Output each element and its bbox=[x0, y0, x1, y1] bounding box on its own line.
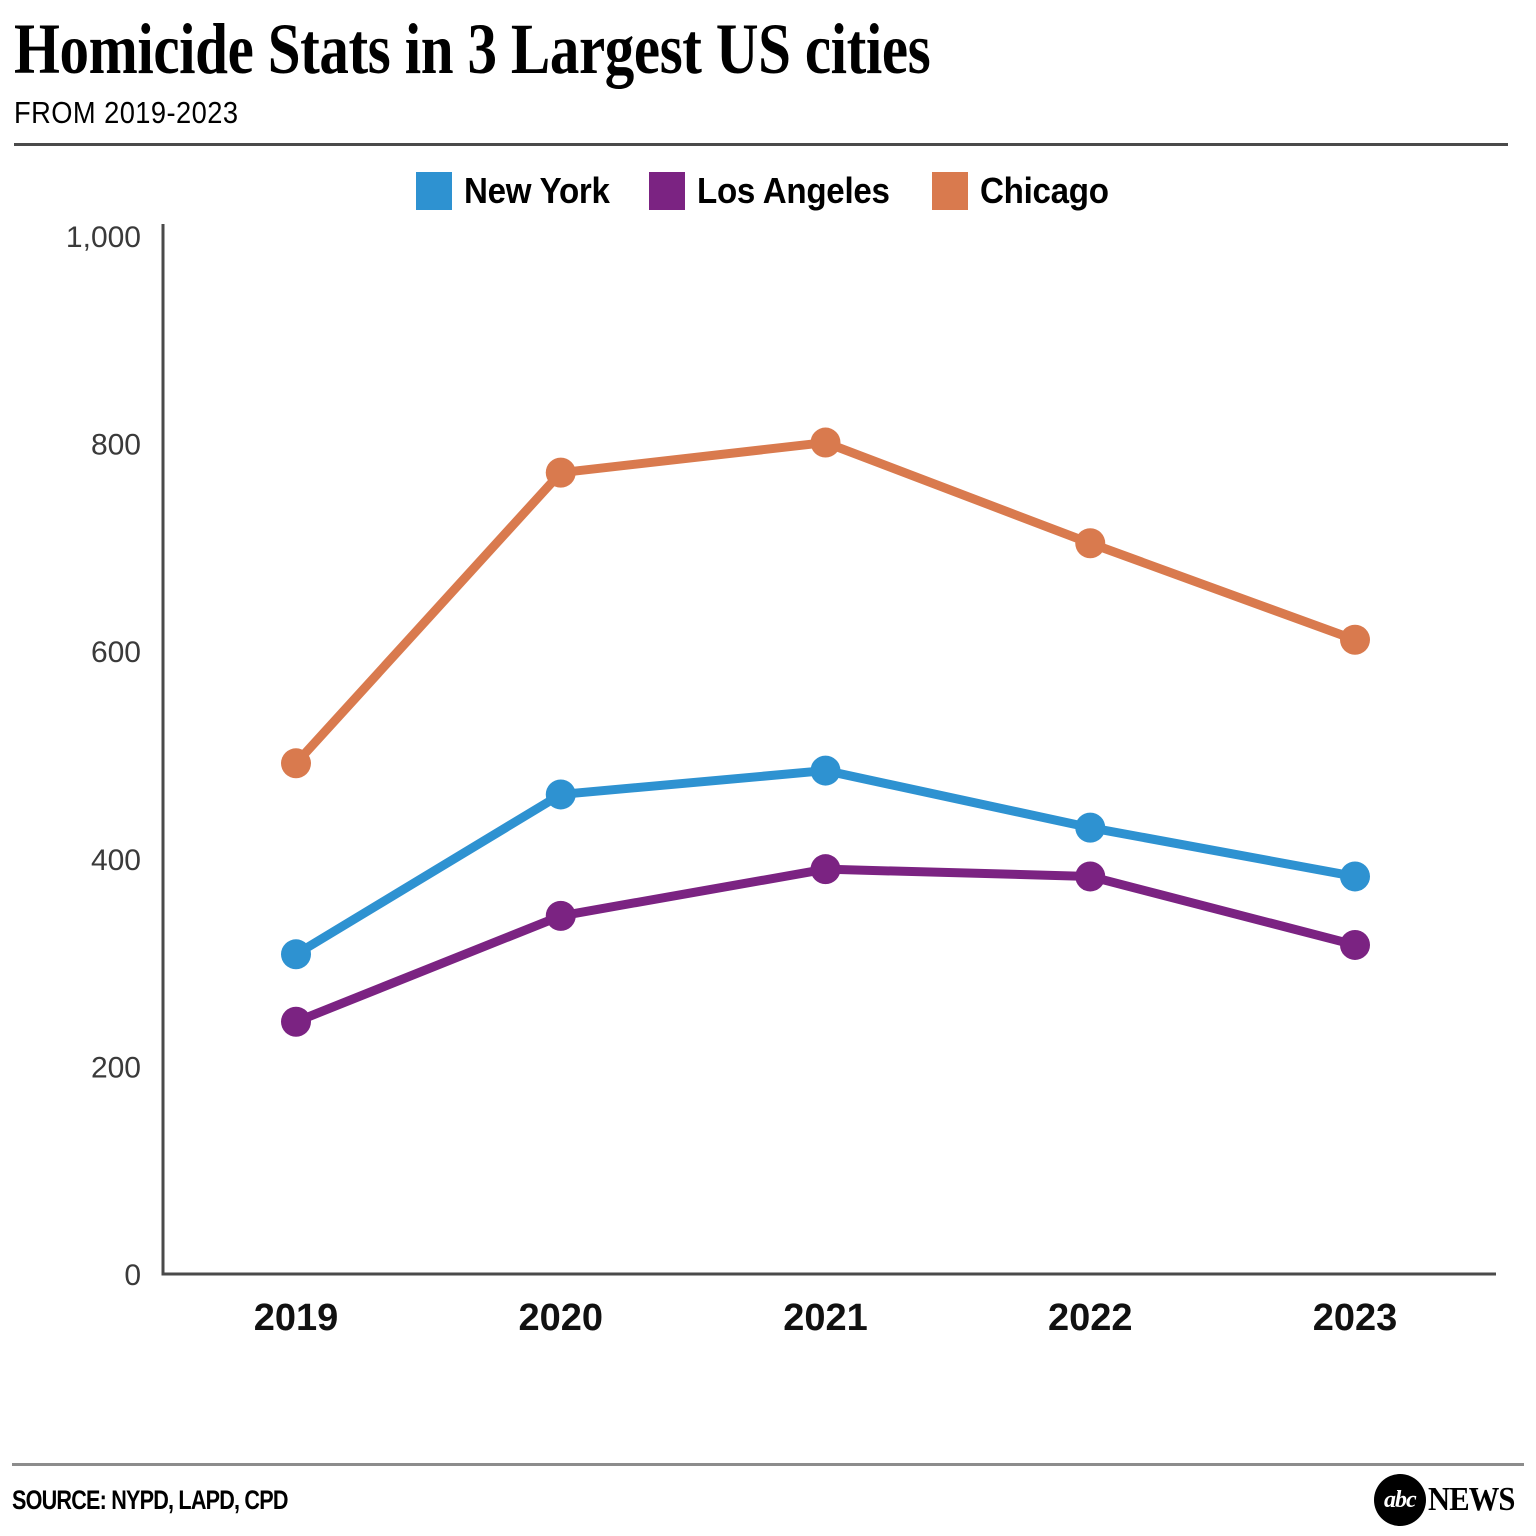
data-point-new-york-2023[interactable] bbox=[1340, 861, 1370, 891]
x-axis-tick-label: 2020 bbox=[518, 1297, 603, 1339]
source-credit: SOURCE: NYPD, LAPD, CPD bbox=[12, 1485, 288, 1516]
legend-swatch-icon-chicago bbox=[932, 172, 968, 210]
y-axis-tick-label: 600 bbox=[91, 636, 141, 669]
header-divider bbox=[14, 143, 1508, 146]
data-point-los-angeles-2021[interactable] bbox=[811, 854, 841, 884]
legend-item-los-angeles[interactable]: Los Angeles bbox=[649, 170, 906, 212]
series-line-chicago bbox=[296, 442, 1355, 763]
y-axis-tick-label: 1,000 bbox=[66, 221, 141, 254]
data-point-los-angeles-2022[interactable] bbox=[1075, 861, 1105, 891]
x-axis-tick-label: 2022 bbox=[1048, 1297, 1133, 1339]
footer: SOURCE: NYPD, LAPD, CPD abc NEWS bbox=[0, 1463, 1536, 1536]
data-point-new-york-2022[interactable] bbox=[1075, 812, 1105, 842]
y-axis-tick-label: 400 bbox=[91, 843, 141, 876]
x-axis-tick-label: 2023 bbox=[1313, 1297, 1398, 1339]
data-point-new-york-2020[interactable] bbox=[546, 779, 576, 809]
abc-logo-text: NEWS bbox=[1428, 1481, 1515, 1519]
legend-label-new-york: New York bbox=[464, 170, 610, 212]
data-point-los-angeles-2019[interactable] bbox=[281, 1006, 311, 1036]
chart-plot-area: 02004006008001,00020192020202120222023 bbox=[0, 212, 1536, 1463]
page-subtitle: FROM 2019-2023 bbox=[14, 95, 1336, 131]
x-axis-tick-label: 2019 bbox=[254, 1297, 339, 1339]
data-point-new-york-2019[interactable] bbox=[281, 939, 311, 969]
abc-news-logo: abc NEWS bbox=[1374, 1474, 1524, 1526]
legend-item-new-york[interactable]: New York bbox=[416, 170, 622, 212]
data-point-chicago-2022[interactable] bbox=[1075, 528, 1105, 558]
data-point-chicago-2021[interactable] bbox=[811, 427, 841, 457]
chart-legend: New York Los Angeles Chicago bbox=[0, 170, 1536, 212]
data-point-chicago-2019[interactable] bbox=[281, 748, 311, 778]
data-point-los-angeles-2020[interactable] bbox=[546, 900, 576, 930]
series-line-los-angeles bbox=[296, 869, 1355, 1022]
line-chart-svg: 02004006008001,00020192020202120222023 bbox=[0, 212, 1536, 1392]
y-axis-tick-label: 0 bbox=[124, 1259, 141, 1292]
legend-label-los-angeles: Los Angeles bbox=[697, 170, 890, 212]
footer-divider bbox=[12, 1463, 1524, 1466]
legend-label-chicago: Chicago bbox=[980, 170, 1109, 212]
y-axis-tick-label: 800 bbox=[91, 428, 141, 461]
data-point-chicago-2020[interactable] bbox=[546, 457, 576, 487]
infographic-page: Homicide Stats in 3 Largest US cities FR… bbox=[0, 0, 1536, 1536]
legend-swatch-icon-los-angeles bbox=[649, 172, 685, 210]
data-point-los-angeles-2023[interactable] bbox=[1340, 930, 1370, 960]
legend-swatch-icon-new-york bbox=[416, 172, 452, 210]
data-point-chicago-2023[interactable] bbox=[1340, 624, 1370, 654]
x-axis-tick-label: 2021 bbox=[783, 1297, 868, 1339]
legend-item-chicago[interactable]: Chicago bbox=[932, 170, 1120, 212]
page-title: Homicide Stats in 3 Largest US cities bbox=[14, 14, 1246, 85]
data-point-new-york-2021[interactable] bbox=[811, 755, 841, 785]
y-axis-tick-label: 200 bbox=[91, 1051, 141, 1084]
abc-logo-mark-icon: abc bbox=[1374, 1474, 1426, 1526]
header: Homicide Stats in 3 Largest US cities FR… bbox=[0, 0, 1536, 146]
